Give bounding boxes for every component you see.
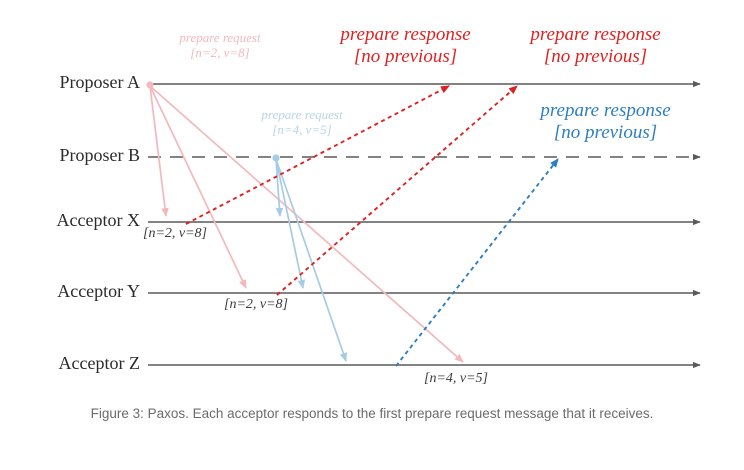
value-acceptor-y: [n=2, v=8]	[224, 297, 288, 313]
label-prepare-request-b: prepare request[n=4, v=5]	[242, 107, 362, 138]
label-prepare-response-2: prepare response[no previous]	[503, 24, 688, 69]
lane-label-acceptor-x: Acceptor X	[18, 210, 140, 231]
lane-label-proposer-b: Proposer B	[18, 145, 140, 166]
label-prepare-response-3-line2: [no previous]	[513, 122, 698, 144]
label-prepare-response-3: prepare response[no previous]	[513, 100, 698, 145]
figure-container: Proposer AProposer BAcceptor XAcceptor Y…	[0, 0, 744, 470]
label-prepare-response-2-line1: prepare response	[503, 24, 688, 46]
arrow-prepare-request-a-0	[150, 86, 166, 216]
origin-dot-proposer-b	[272, 154, 279, 161]
label-prepare-response-1: prepare response[no previous]	[313, 24, 498, 69]
label-prepare-response-1-line1: prepare response	[313, 24, 498, 46]
label-prepare-request-b-line1: prepare request	[242, 107, 362, 122]
origin-dot-proposer-a	[146, 81, 153, 88]
label-prepare-response-1-line2: [no previous]	[313, 46, 498, 68]
label-prepare-request-a-line1: prepare request	[160, 30, 280, 45]
lane-label-acceptor-y: Acceptor Y	[18, 281, 140, 302]
label-prepare-request-a: prepare request[n=2, v=8]	[160, 30, 280, 61]
value-acceptor-z: [n=4, v=5]	[424, 371, 488, 387]
lane-label-proposer-a: Proposer A	[18, 72, 140, 93]
arrow-prepare-response-z-to-b-0	[396, 159, 558, 366]
arrow-prepare-request-b-2	[276, 159, 346, 361]
label-prepare-request-b-line2: [n=4, v=5]	[242, 122, 362, 137]
value-acceptor-x: [n=2, v=8]	[143, 226, 207, 242]
paxos-sequence-diagram	[0, 0, 744, 470]
label-prepare-response-2-line2: [no previous]	[503, 46, 688, 68]
label-prepare-response-3-line1: prepare response	[513, 100, 698, 122]
label-prepare-request-a-line2: [n=2, v=8]	[160, 45, 280, 60]
figure-caption: Figure 3: Paxos. Each acceptor responds …	[60, 404, 684, 425]
lane-label-acceptor-z: Acceptor Z	[18, 353, 140, 374]
arrow-prepare-request-a-1	[150, 86, 246, 288]
